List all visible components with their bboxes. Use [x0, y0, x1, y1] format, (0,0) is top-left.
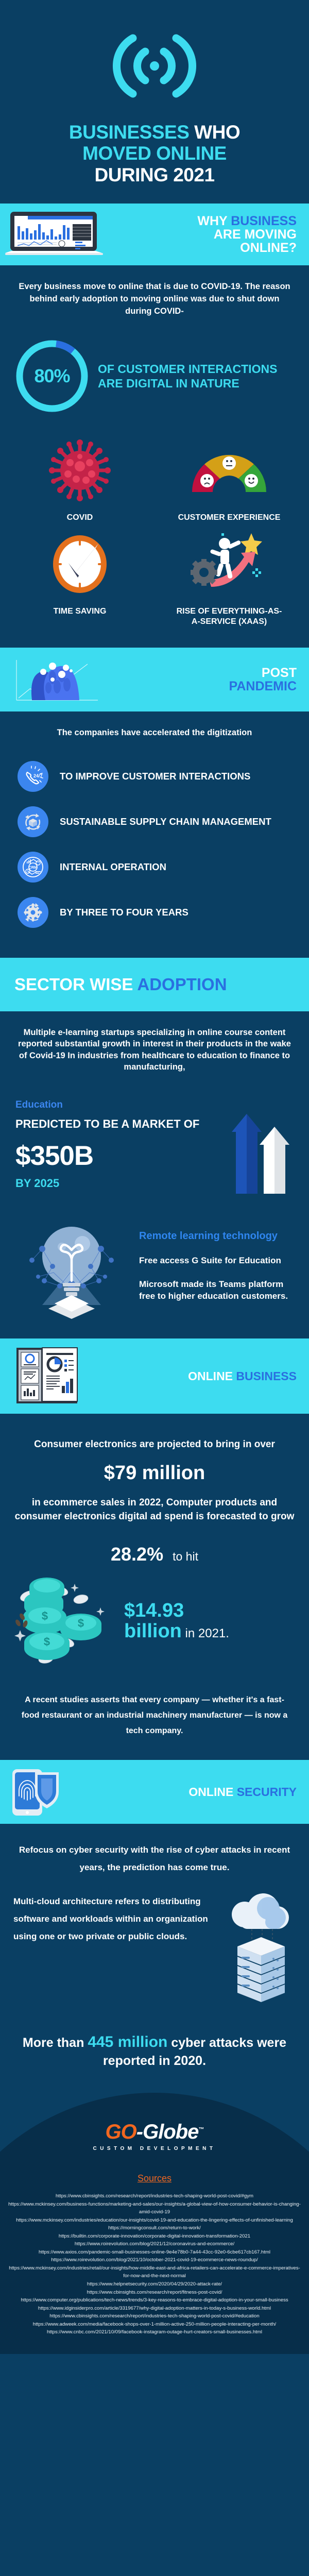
sector-paragraph: Multiple e-learning startups specializin…: [0, 1011, 309, 1078]
coins-value-billion: billion: [124, 1620, 182, 1642]
source-link[interactable]: https://morningconsult.com/return-to-wor…: [7, 2224, 302, 2232]
lightbulb-network-icon: [12, 1220, 131, 1323]
svg-text:$: $: [78, 1617, 84, 1630]
svg-text:$: $: [42, 1609, 48, 1622]
coins-stat-row: $$$ $14.93 billion in 2021.: [0, 1571, 309, 1677]
banner-os-line1a: ONLINE: [188, 1785, 236, 1799]
laptop-dashboard-icon: [5, 211, 103, 258]
cloud-server-stack-icon: [218, 1893, 296, 2011]
source-link[interactable]: https://www.computer.org/publications/te…: [7, 2296, 302, 2304]
donut-chart-80: 80%: [13, 337, 91, 415]
banner-pp-line2: PANDEMIC: [106, 680, 297, 693]
list-item-label: BY THREE TO FOUR YEARS: [60, 906, 188, 918]
coins-value-line1: $14.93: [124, 1601, 299, 1621]
footer-section: GO-Globe™ CUSTOM DEVELOPMENT Sources htt…: [0, 2093, 309, 2354]
phone-fingerprint-shield-icon: [5, 1767, 77, 1817]
coins-stat-text: $14.93 billion in 2021.: [124, 1601, 299, 1642]
banner-post-pandemic: POST PANDEMIC: [0, 648, 309, 711]
list-item-label: INTERNAL OPERATION: [60, 861, 166, 873]
security-paragraph-1: Refocus on cyber security with the rise …: [0, 1824, 309, 1879]
banner-ob-line1b: BUSINESS: [236, 1369, 297, 1383]
phone-247-support-icon: 24/7: [18, 761, 48, 792]
hero-section: BUSINESSES WHO MOVED ONLINE DURING 2021: [0, 0, 309, 204]
clock-checkmark-icon: [49, 531, 111, 597]
banner-os-line1b: SECURITY: [237, 1785, 297, 1799]
svg-text:$: $: [44, 1635, 50, 1648]
logo-trademark: ™: [198, 2127, 203, 2133]
hero-line-2: MOVED ONLINE: [0, 143, 309, 164]
banner-ob-line1a: ONLINE: [188, 1369, 236, 1383]
reason-cell-time-saving: TIME SAVING: [5, 531, 154, 627]
remote-learning-row: Remote learning technology Free access G…: [0, 1210, 309, 1338]
source-link[interactable]: https://www.cbinsights.com/research/repo…: [7, 2192, 302, 2200]
source-link[interactable]: https://www.roirevolution.com/blog/2021/…: [7, 2256, 302, 2264]
banner-sector-line1a: SECTOR WISE: [14, 975, 137, 994]
logo-globe-text: -Globe: [136, 2121, 199, 2143]
list-item-label: TO IMPROVE CUSTOMER INTERACTIONS: [60, 770, 250, 782]
banner-why-line2: ARE MOVING: [108, 228, 297, 241]
remote-learning-p1: Free access G Suite for Education: [139, 1255, 297, 1267]
reason-label-xaas: RISE OF EVERYTHING-AS-A-SERVICE (XAAS): [175, 606, 283, 627]
security-cloud-row: Multi-cloud architecture refers to distr…: [0, 1879, 309, 2016]
wifi-broadcast-icon: [111, 31, 198, 101]
reason-cell-xaas: RISE OF EVERYTHING-AS-A-SERVICE (XAAS): [154, 531, 304, 627]
banner-why-line1a: WHY: [197, 214, 231, 228]
banner-online-security: ONLINE SECURITY: [0, 1760, 309, 1824]
source-link[interactable]: https://www.cbinsights.com/research/repo…: [7, 2289, 302, 2297]
post-pandemic-paragraph: The companies have accelerated the digit…: [0, 711, 309, 744]
gear-cycle-icon: [18, 897, 48, 928]
source-link[interactable]: https://www.cbinsights.com/research/repo…: [7, 2312, 302, 2320]
stacked-coins-icon: $$$: [10, 1577, 121, 1667]
source-link[interactable]: https://www.mckinsey.com/business-functi…: [7, 2200, 302, 2216]
online-business-body: in ecommerce sales in 2022, Computer pro…: [0, 1496, 309, 1531]
education-subtext: BY 2025: [15, 1177, 226, 1190]
svg-text:24/7: 24/7: [33, 773, 43, 778]
svg-text:CRM: CRM: [28, 865, 37, 870]
source-link[interactable]: https://www.helpnetsecurity.com/2020/04/…: [7, 2280, 302, 2289]
crm-cycle-icon: CRM: [18, 852, 48, 883]
infographic-page: BUSINESSES WHO MOVED ONLINE DURING 2021: [0, 0, 309, 2576]
hero-line-1: BUSINESSES WHO: [0, 122, 309, 143]
donut-value-label: 80%: [13, 337, 91, 415]
donut-description: OF CUSTOMER INTERACTIONS ARE DIGITAL IN …: [98, 362, 296, 391]
supply-chain-box-icon: [18, 806, 48, 837]
covid-growth-chart-icon: [5, 655, 100, 704]
source-link[interactable]: https://builtin.com/corporate-innovation…: [7, 2232, 302, 2241]
person-growth-arrow-icon: [191, 531, 268, 597]
sources-heading: Sources: [0, 2173, 309, 2184]
logo-subtitle: CUSTOM DEVELOPMENT: [93, 2146, 216, 2151]
logo-go-text: GO: [106, 2121, 136, 2143]
go-globe-logo: GO-Globe™ CUSTOM DEVELOPMENT: [93, 2121, 216, 2151]
remote-learning-text: Remote learning technology Free access G…: [136, 1229, 297, 1314]
list-item-label: SUSTAINABLE SUPPLY CHAIN MANAGEMENT: [60, 816, 271, 827]
post-pandemic-list: 24/7 TO IMPROVE CUSTOMER INTERACTIONS: [0, 744, 309, 958]
list-item: 24/7 TO IMPROVE CUSTOMER INTERACTIONS: [0, 754, 309, 799]
source-link[interactable]: https://www.roirevolution.com/blog/2021/…: [7, 2240, 302, 2248]
source-link[interactable]: https://www.axios.com/pandemic-small-bus…: [7, 2248, 302, 2257]
source-link[interactable]: https://www.cnbc.com/2021/10/09/facebook…: [7, 2328, 302, 2336]
security-big-stat: More than 445 million cyber attacks were…: [0, 2016, 309, 2093]
hero-line-3: DURING 2021: [0, 164, 309, 185]
source-link[interactable]: https://www.adweek.com/media/facebook-sh…: [7, 2320, 302, 2329]
source-link[interactable]: https://www.idginsiderpro.com/article/33…: [7, 2304, 302, 2313]
hero-line-1-b: WHO: [194, 122, 240, 143]
banner-why-line1b: BUSINESS: [231, 214, 297, 228]
list-item: BY THREE TO FOUR YEARS: [0, 890, 309, 935]
security-paragraph-2: Multi-cloud architecture refers to distr…: [13, 1893, 214, 1945]
reason-cell-covid: COVID: [5, 437, 154, 523]
reason-label-covid: COVID: [67, 513, 93, 523]
banner-why-business-title: WHY BUSINESS ARE MOVING ONLINE?: [108, 214, 304, 255]
security-big-highlight: 445 million: [88, 2033, 167, 2050]
banner-online-business: ONLINE BUSINESS: [0, 1338, 309, 1414]
list-item: SUSTAINABLE SUPPLY CHAIN MANAGEMENT: [0, 799, 309, 844]
reasons-grid: COVID CU: [0, 427, 309, 648]
education-value: $350B: [15, 1140, 226, 1172]
donut-stat-row: 80% OF CUSTOMER INTERACTIONS ARE DIGITAL…: [0, 323, 309, 427]
reason-cell-customer-experience: CUSTOMER EXPERIENCE: [154, 437, 304, 523]
banner-post-pandemic-title: POST PANDEMIC: [106, 666, 304, 693]
source-link[interactable]: https://www.mckinsey.com/industries/reta…: [7, 2264, 302, 2280]
reason-label-time-saving: TIME SAVING: [54, 606, 107, 617]
why-paragraph: Every business move to online that is du…: [0, 265, 309, 323]
remote-learning-p2: Microsoft made its Teams platform free t…: [139, 1278, 297, 1303]
banner-why-business: WHY BUSINESS ARE MOVING ONLINE?: [0, 204, 309, 265]
source-link[interactable]: https://www.mckinsey.com/industries/educ…: [7, 2216, 302, 2225]
remote-learning-title: Remote learning technology: [139, 1229, 297, 1243]
education-headline: PREDICTED TO BE A MARKET OF: [15, 1117, 226, 1132]
coins-value-year: in 2021.: [182, 1626, 229, 1640]
growth-percent-tail: to hit: [173, 1550, 198, 1564]
banner-sector-title: SECTOR WISE ADOPTION: [5, 976, 304, 994]
security-big-pre: More than: [23, 2036, 88, 2050]
satisfaction-gauge-icon: [190, 437, 268, 503]
sources-list: https://www.cbinsights.com/research/repo…: [0, 2192, 309, 2336]
hero-line-1-a: BUSINESSES: [69, 122, 194, 143]
reason-label-customer-experience: CUSTOMER EXPERIENCE: [178, 513, 281, 523]
report-document-icon: [5, 1346, 82, 1406]
online-business-head: Consumer electronics are projected to br…: [0, 1414, 309, 1455]
education-text-block: Education PREDICTED TO BE A MARKET OF $3…: [15, 1099, 226, 1190]
banner-why-line3: ONLINE?: [108, 241, 297, 255]
banner-sector-line1b: ADOPTION: [137, 975, 227, 994]
upward-arrows-icon: [231, 1093, 294, 1196]
education-stat-row: Education PREDICTED TO BE A MARKET OF $3…: [0, 1078, 309, 1210]
growth-percent-value: 28.2%: [111, 1544, 163, 1565]
list-item: CRM INTERNAL OPERATION: [0, 844, 309, 890]
online-business-closing: A recent studies asserts that every comp…: [0, 1677, 309, 1760]
banner-sector-wise: SECTOR WISE ADOPTION: [0, 958, 309, 1011]
coronavirus-icon: [47, 437, 112, 503]
growth-percent-row: 28.2% to hit: [0, 1531, 309, 1571]
education-kicker: Education: [15, 1099, 226, 1111]
coins-value-line2: billion in 2021.: [124, 1621, 299, 1642]
banner-online-business-title: ONLINE BUSINESS: [88, 1370, 304, 1382]
online-business-big-value: $79 million: [0, 1455, 309, 1496]
banner-pp-line1: POST: [106, 666, 297, 680]
banner-online-security-title: ONLINE SECURITY: [82, 1786, 304, 1798]
